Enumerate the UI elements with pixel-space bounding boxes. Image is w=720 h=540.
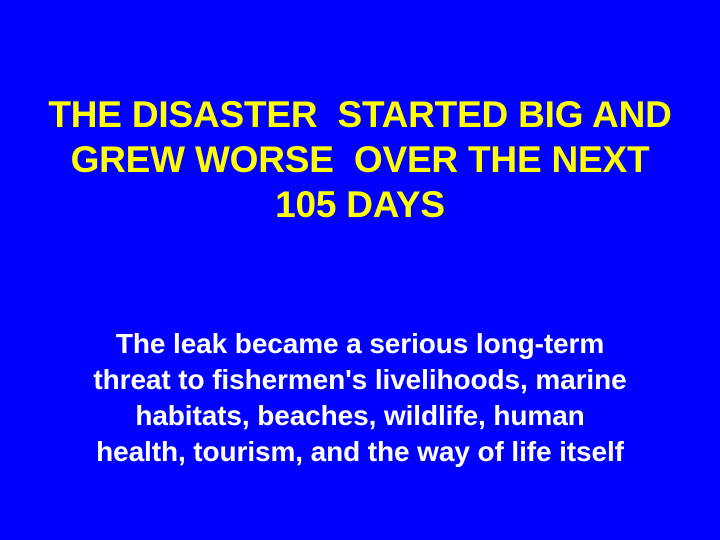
body-line-3: habitats, beaches, wildlife, human [40, 398, 680, 434]
body-line-4: health, tourism, and the way of life its… [40, 434, 680, 470]
slide-body: The leak became a serious long-term thre… [40, 326, 680, 470]
presentation-slide: THE DISASTER STARTED BIG AND GREW WORSE … [0, 0, 720, 540]
body-line-1: The leak became a serious long-term [40, 326, 680, 362]
title-line-2: GREW WORSE OVER THE NEXT [30, 137, 690, 182]
title-line-3: 105 DAYS [30, 182, 690, 227]
slide-title: THE DISASTER STARTED BIG AND GREW WORSE … [30, 92, 690, 227]
body-line-2: threat to fishermen's livelihoods, marin… [40, 362, 680, 398]
title-line-1: THE DISASTER STARTED BIG AND [30, 92, 690, 137]
